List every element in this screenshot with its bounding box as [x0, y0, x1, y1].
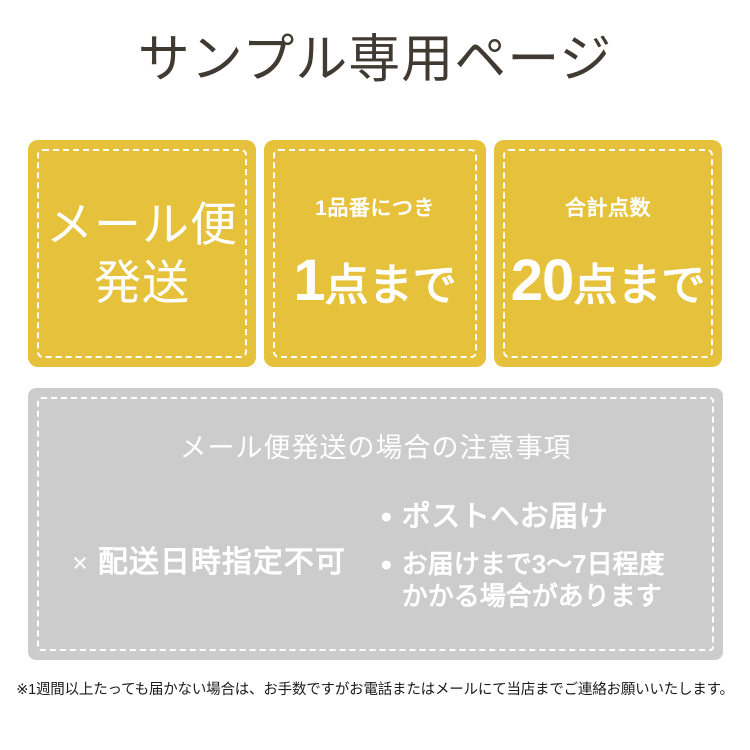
card-mail-delivery-content: メール便 発送: [28, 196, 256, 312]
notice-bullet-delivery-time-label: お届けまで3〜7日程度かかる場合があります: [402, 548, 665, 612]
card-total-number: 20: [511, 248, 574, 313]
card-per-item-limit-content: 1品番につき 1点まで: [264, 196, 486, 311]
notice-box: メール便発送の場合の注意事項 ×配送日時指定不可 ● ポストへお届け ● お届け…: [28, 388, 723, 660]
sample-page: サンプル専用ページ メール便 発送 1品番につき 1点まで 合計点数 20点まで: [0, 0, 750, 750]
footer-note: ※1週間以上たっても届かない場合は、お手数ですがお電話またはメールにて当店までご…: [0, 680, 750, 700]
notice-bullet-delivery-time: ● お届けまで3〜7日程度かかる場合があります: [380, 548, 723, 612]
card-per-item-unit: 点まで: [325, 261, 457, 310]
card-total-limit: 合計点数 20点まで: [494, 140, 722, 367]
bullet-dot-icon: ●: [380, 548, 393, 582]
card-per-item-heading: 1品番につき: [264, 196, 486, 222]
card-total-value: 20点まで: [494, 256, 722, 311]
bullet-dot-icon: ●: [380, 500, 393, 534]
card-total-limit-content: 合計点数 20点まで: [494, 196, 722, 311]
notice-no-date-designation-label: 配送日時指定不可: [98, 546, 346, 579]
card-total-unit: 点まで: [573, 261, 705, 310]
card-per-item-value: 1点まで: [264, 256, 486, 311]
info-cards-row: メール便 発送 1品番につき 1点まで 合計点数 20点まで: [28, 140, 722, 367]
notice-title: メール便発送の場合の注意事項: [28, 432, 723, 464]
card-mail-delivery-line2: 発送: [28, 254, 256, 312]
card-per-item-limit: 1品番につき 1点まで: [264, 140, 486, 367]
notice-bullet-post-delivery: ● ポストへお届け: [380, 500, 723, 534]
notice-no-date-designation: ×配送日時指定不可: [72, 544, 346, 582]
card-mail-delivery-line1: メール便: [28, 196, 256, 254]
notice-left-column: ×配送日時指定不可: [28, 498, 380, 628]
notice-body: ×配送日時指定不可 ● ポストへお届け ● お届けまで3〜7日程度かかる場合があ…: [28, 498, 723, 638]
notice-right-column: ● ポストへお届け ● お届けまで3〜7日程度かかる場合があります: [380, 498, 723, 612]
page-title: サンプル専用ページ: [0, 28, 750, 92]
cross-icon: ×: [72, 548, 89, 578]
notice-bullet-delivery-time-line2: かかる場合があります: [402, 581, 662, 611]
card-total-heading: 合計点数: [494, 196, 722, 222]
notice-bullet-post-delivery-label: ポストへお届け: [402, 500, 609, 534]
card-per-item-number: 1: [293, 248, 324, 313]
notice-bullet-delivery-time-line1: お届けまで3〜7日程度: [402, 549, 665, 579]
card-mail-delivery: メール便 発送: [28, 140, 256, 367]
